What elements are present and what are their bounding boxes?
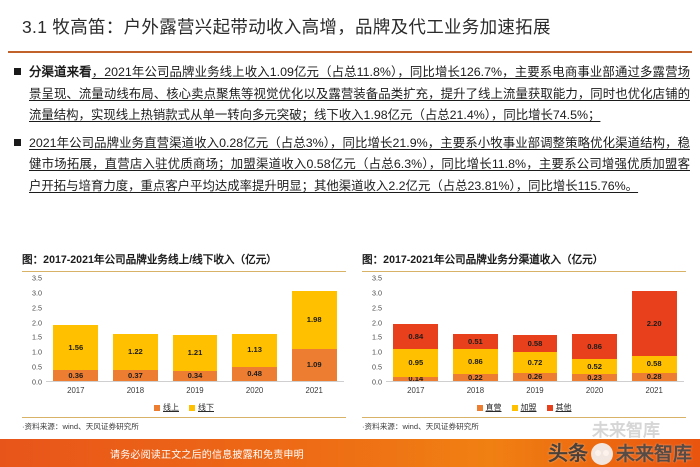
slide-header: 3.1 牧高笛：户外露营兴起带动收入高增，品牌及代工业务加速拓展 bbox=[0, 0, 700, 52]
square-bullet-icon bbox=[14, 139, 21, 146]
y-axis-tick: 3.5 bbox=[372, 274, 382, 283]
bar-value-label: 0.22 bbox=[468, 374, 483, 380]
y-axis-tick: 1.5 bbox=[372, 333, 382, 342]
bullet-body-text: 2021年公司品牌业务直营渠道收入0.28亿元（占总3%），同比增长21.9%，… bbox=[29, 136, 690, 193]
footer-disclaimer: 请务必阅读正文之后的信息披露和免责申明 bbox=[0, 446, 304, 461]
chart-title: 图：2017-2021年公司品牌业务线上/线下收入（亿元） bbox=[22, 252, 346, 271]
bar-segment: 2.20 bbox=[632, 291, 677, 355]
y-axis-tick: 2.0 bbox=[32, 318, 42, 327]
bar-segment: 0.51 bbox=[453, 334, 498, 349]
y-axis-tick: 0.0 bbox=[372, 377, 382, 386]
x-axis-tick: 2019 bbox=[513, 386, 558, 395]
bar-column[interactable]: 1.220.37 bbox=[113, 278, 158, 380]
x-axis-tick: 2021 bbox=[292, 386, 337, 395]
bar-segment: 0.26 bbox=[513, 373, 558, 381]
bar-segment: 1.98 bbox=[292, 291, 337, 349]
bar-column[interactable]: 2.200.580.28 bbox=[632, 278, 677, 380]
bar-value-label: 0.48 bbox=[247, 370, 262, 378]
y-axis-tick: 0.0 bbox=[32, 377, 42, 386]
bar-column[interactable]: 1.210.34 bbox=[173, 278, 218, 380]
bar-value-label: 0.36 bbox=[68, 372, 83, 380]
y-axis-tick: 0.5 bbox=[372, 363, 382, 372]
bar-column[interactable]: 0.580.720.26 bbox=[513, 278, 558, 380]
bar-segment: 0.72 bbox=[513, 352, 558, 373]
legend-label: 线下 bbox=[198, 402, 214, 413]
bar-value-label: 0.86 bbox=[587, 343, 602, 351]
legend-item[interactable]: 线下 bbox=[189, 402, 214, 413]
y-axis-tick: 3.5 bbox=[32, 274, 42, 283]
bullet-paragraph: 分渠道来看，2021年公司品牌业务线上收入1.09亿元（占总11.8%），同比增… bbox=[29, 62, 690, 127]
y-axis-tick: 0.5 bbox=[32, 363, 42, 372]
bar-value-label: 0.52 bbox=[587, 363, 602, 371]
bar-value-label: 0.37 bbox=[128, 372, 143, 380]
bullet-body-text: ，2021年公司品牌业务线上收入1.09亿元（占总11.8%），同比增长126.… bbox=[29, 65, 690, 122]
legend-swatch-icon bbox=[477, 405, 483, 411]
legend-swatch-icon bbox=[154, 405, 160, 411]
bar-value-label: 0.58 bbox=[647, 360, 662, 368]
chart-title-divider bbox=[22, 271, 346, 272]
bar-segment: 0.86 bbox=[572, 334, 617, 359]
x-axis: 20172018201920202021 bbox=[46, 382, 344, 400]
x-axis-tick: 2020 bbox=[572, 386, 617, 395]
bar-segment: 1.56 bbox=[53, 325, 98, 371]
bar-segment: 1.09 bbox=[292, 349, 337, 381]
bar-segment: 0.52 bbox=[572, 359, 617, 374]
bar-segment: 0.86 bbox=[453, 349, 498, 374]
y-axis-tick: 2.5 bbox=[372, 303, 382, 312]
bar-segment: 0.95 bbox=[393, 349, 438, 377]
chart-title-divider bbox=[362, 271, 686, 272]
bar-value-label: 0.26 bbox=[528, 373, 543, 381]
bar-column[interactable]: 0.840.950.14 bbox=[393, 278, 438, 380]
bars-container: 1.560.361.220.371.210.341.130.481.981.09 bbox=[46, 278, 344, 381]
y-axis: 0.00.51.01.52.02.53.03.5 bbox=[362, 278, 384, 381]
bar-value-label: 0.14 bbox=[408, 377, 423, 381]
y-axis-tick: 1.0 bbox=[372, 348, 382, 357]
x-axis-tick: 2017 bbox=[53, 386, 98, 395]
title-divider bbox=[8, 51, 692, 53]
y-axis-tick: 2.0 bbox=[372, 318, 382, 327]
y-axis-tick: 3.0 bbox=[372, 289, 382, 298]
bar-value-label: 0.58 bbox=[528, 340, 543, 348]
charts-row: 图：2017-2021年公司品牌业务线上/线下收入（亿元） 0.00.51.01… bbox=[22, 252, 686, 432]
chart-panel-by-channel: 图：2017-2021年公司品牌业务分渠道收入（亿元） 0.00.51.01.5… bbox=[362, 252, 686, 432]
bar-value-label: 1.21 bbox=[188, 349, 203, 357]
legend-item[interactable]: 线上 bbox=[154, 402, 179, 413]
bullet-item: 分渠道来看，2021年公司品牌业务线上收入1.09亿元（占总11.8%），同比增… bbox=[14, 62, 690, 127]
bullet-lead-label: 分渠道来看 bbox=[29, 65, 92, 79]
bar-segment: 0.48 bbox=[232, 367, 277, 381]
bar-segment: 1.21 bbox=[173, 335, 218, 370]
legend-swatch-icon bbox=[189, 405, 195, 411]
bar-value-label: 0.28 bbox=[647, 373, 662, 381]
chart-panel-online-offline: 图：2017-2021年公司品牌业务线上/线下收入（亿元） 0.00.51.01… bbox=[22, 252, 346, 432]
bar-column[interactable]: 1.560.36 bbox=[53, 278, 98, 380]
bar-value-label: 1.56 bbox=[68, 344, 83, 352]
legend-item[interactable]: 其他 bbox=[547, 402, 572, 413]
bar-column[interactable]: 0.510.860.22 bbox=[453, 278, 498, 380]
y-axis: 0.00.51.01.52.02.53.03.5 bbox=[22, 278, 44, 381]
legend-swatch-icon bbox=[547, 405, 553, 411]
bar-segment: 0.14 bbox=[393, 377, 438, 381]
y-axis-tick: 1.0 bbox=[32, 348, 42, 357]
page-title: 3.1 牧高笛：户外露营兴起带动收入高增，品牌及代工业务加速拓展 bbox=[22, 14, 551, 39]
chart-legend: 线上线下 bbox=[22, 400, 346, 414]
bar-segment: 0.84 bbox=[393, 324, 438, 349]
legend-item[interactable]: 加盟 bbox=[512, 402, 537, 413]
bar-segment: 0.23 bbox=[572, 374, 617, 381]
bar-value-label: 0.23 bbox=[587, 374, 602, 381]
legend-label: 直营 bbox=[486, 402, 502, 413]
bars-container: 0.840.950.140.510.860.220.580.720.260.86… bbox=[386, 278, 684, 381]
bar-value-label: 0.34 bbox=[188, 372, 203, 380]
source-note: ·资料来源：wind、天风证券研究所 bbox=[362, 418, 686, 432]
bar-value-label: 1.22 bbox=[128, 348, 143, 356]
chart-legend: 直营加盟其他 bbox=[362, 400, 686, 414]
legend-label: 其他 bbox=[556, 402, 572, 413]
chart-plot-area: 0.00.51.01.52.02.53.03.5 0.840.950.140.5… bbox=[362, 278, 686, 399]
legend-label: 线上 bbox=[163, 402, 179, 413]
x-axis-tick: 2017 bbox=[393, 386, 438, 395]
bar-segment: 0.37 bbox=[113, 370, 158, 381]
legend-swatch-icon bbox=[512, 405, 518, 411]
slide-footer: 请务必阅读正文之后的信息披露和免责申明 bbox=[0, 439, 700, 467]
bar-value-label: 0.72 bbox=[528, 359, 543, 367]
x-axis-tick: 2019 bbox=[173, 386, 218, 395]
bar-value-label: 0.95 bbox=[408, 359, 423, 367]
bar-value-label: 1.13 bbox=[247, 346, 262, 354]
x-axis-tick: 2018 bbox=[453, 386, 498, 395]
bar-column[interactable]: 1.981.09 bbox=[292, 278, 337, 380]
square-bullet-icon bbox=[14, 68, 21, 75]
y-axis-tick: 1.5 bbox=[32, 333, 42, 342]
bar-segment: 0.28 bbox=[632, 373, 677, 381]
bar-value-label: 1.98 bbox=[307, 316, 322, 324]
chart-title: 图：2017-2021年公司品牌业务分渠道收入（亿元） bbox=[362, 252, 686, 271]
bar-value-label: 0.51 bbox=[468, 338, 483, 346]
body-content: 分渠道来看，2021年公司品牌业务线上收入1.09亿元（占总11.8%），同比增… bbox=[14, 62, 690, 203]
bar-segment: 0.34 bbox=[173, 371, 218, 381]
x-axis-tick: 2020 bbox=[232, 386, 277, 395]
bullet-item: 2021年公司品牌业务直营渠道收入0.28亿元（占总3%），同比增长21.9%，… bbox=[14, 133, 690, 198]
bar-value-label: 2.20 bbox=[647, 320, 662, 328]
y-axis-tick: 2.5 bbox=[32, 303, 42, 312]
legend-label: 加盟 bbox=[521, 402, 537, 413]
y-axis-tick: 3.0 bbox=[32, 289, 42, 298]
x-axis-tick: 2021 bbox=[632, 386, 677, 395]
bar-segment: 0.58 bbox=[632, 356, 677, 373]
bar-column[interactable]: 1.130.48 bbox=[232, 278, 277, 380]
bullet-paragraph: 2021年公司品牌业务直营渠道收入0.28亿元（占总3%），同比增长21.9%，… bbox=[29, 133, 690, 198]
chart-plot-area: 0.00.51.01.52.02.53.03.5 1.560.361.220.3… bbox=[22, 278, 346, 399]
slide-root: 3.1 牧高笛：户外露营兴起带动收入高增，品牌及代工业务加速拓展 分渠道来看，2… bbox=[0, 0, 700, 467]
bar-column[interactable]: 0.860.520.23 bbox=[572, 278, 617, 380]
bar-value-label: 1.09 bbox=[307, 361, 322, 369]
x-axis-tick: 2018 bbox=[113, 386, 158, 395]
bar-segment: 0.58 bbox=[513, 335, 558, 352]
x-axis: 20172018201920202021 bbox=[386, 382, 684, 400]
legend-item[interactable]: 直营 bbox=[477, 402, 502, 413]
bar-segment: 0.36 bbox=[53, 370, 98, 381]
bar-value-label: 0.86 bbox=[468, 358, 483, 366]
bar-value-label: 0.84 bbox=[408, 333, 423, 341]
bar-segment: 1.13 bbox=[232, 334, 277, 367]
bar-segment: 0.22 bbox=[453, 374, 498, 380]
bar-segment: 1.22 bbox=[113, 334, 158, 370]
source-note: ·资料来源：wind、天风证券研究所 bbox=[22, 418, 346, 432]
